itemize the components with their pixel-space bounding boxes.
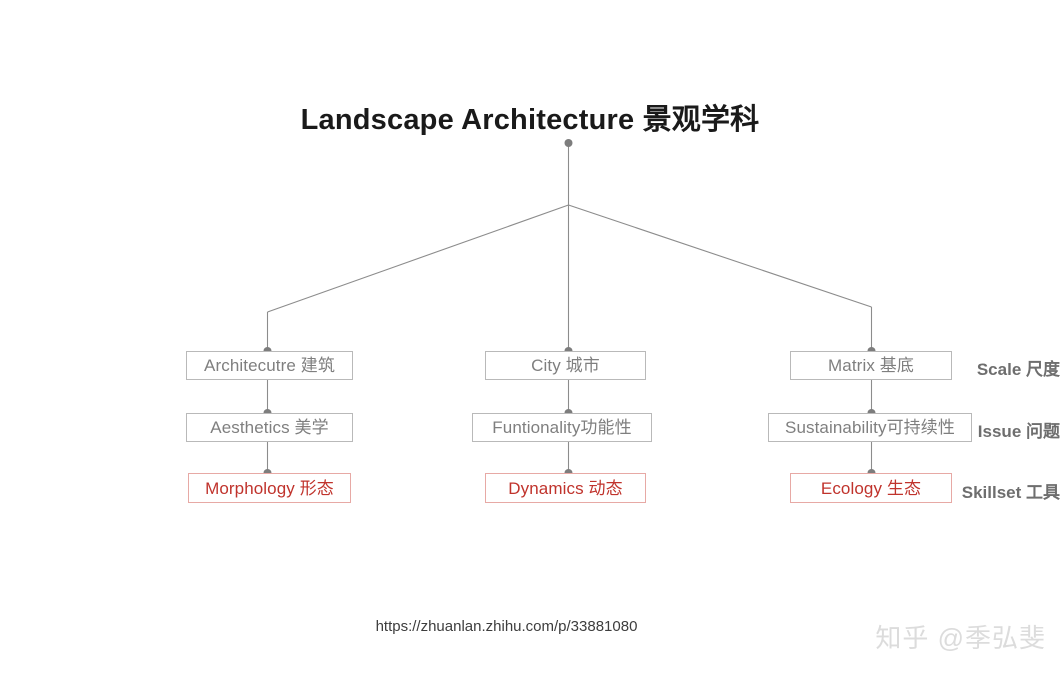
diagram-canvas: Landscape Architecture 景观学科 — [0, 0, 1060, 688]
node-matrix-skillset[interactable]: Ecology 生态 — [790, 473, 952, 503]
page-title: Landscape Architecture 景观学科 — [0, 96, 1060, 138]
node-dot-root — [565, 139, 573, 147]
node-city-scale[interactable]: City 城市 — [485, 351, 646, 380]
source-url[interactable]: https://zhuanlan.zhihu.com/p/33881080 — [0, 618, 1013, 635]
node-matrix-issue[interactable]: Sustainability可持续性 — [768, 413, 972, 442]
node-city-skillset[interactable]: Dynamics 动态 — [485, 473, 646, 503]
node-architecture-skillset[interactable]: Morphology 形态 — [188, 473, 351, 503]
watermark: 知乎 @季弘斐 — [875, 618, 1046, 655]
node-city-issue[interactable]: Funtionality功能性 — [472, 413, 652, 442]
node-matrix-scale[interactable]: Matrix 基底 — [790, 351, 952, 380]
branch-left — [268, 205, 569, 312]
node-architecture-issue[interactable]: Aesthetics 美学 — [186, 413, 353, 442]
node-architecture-scale[interactable]: Architecutre 建筑 — [186, 351, 353, 380]
branch-right — [569, 205, 872, 307]
